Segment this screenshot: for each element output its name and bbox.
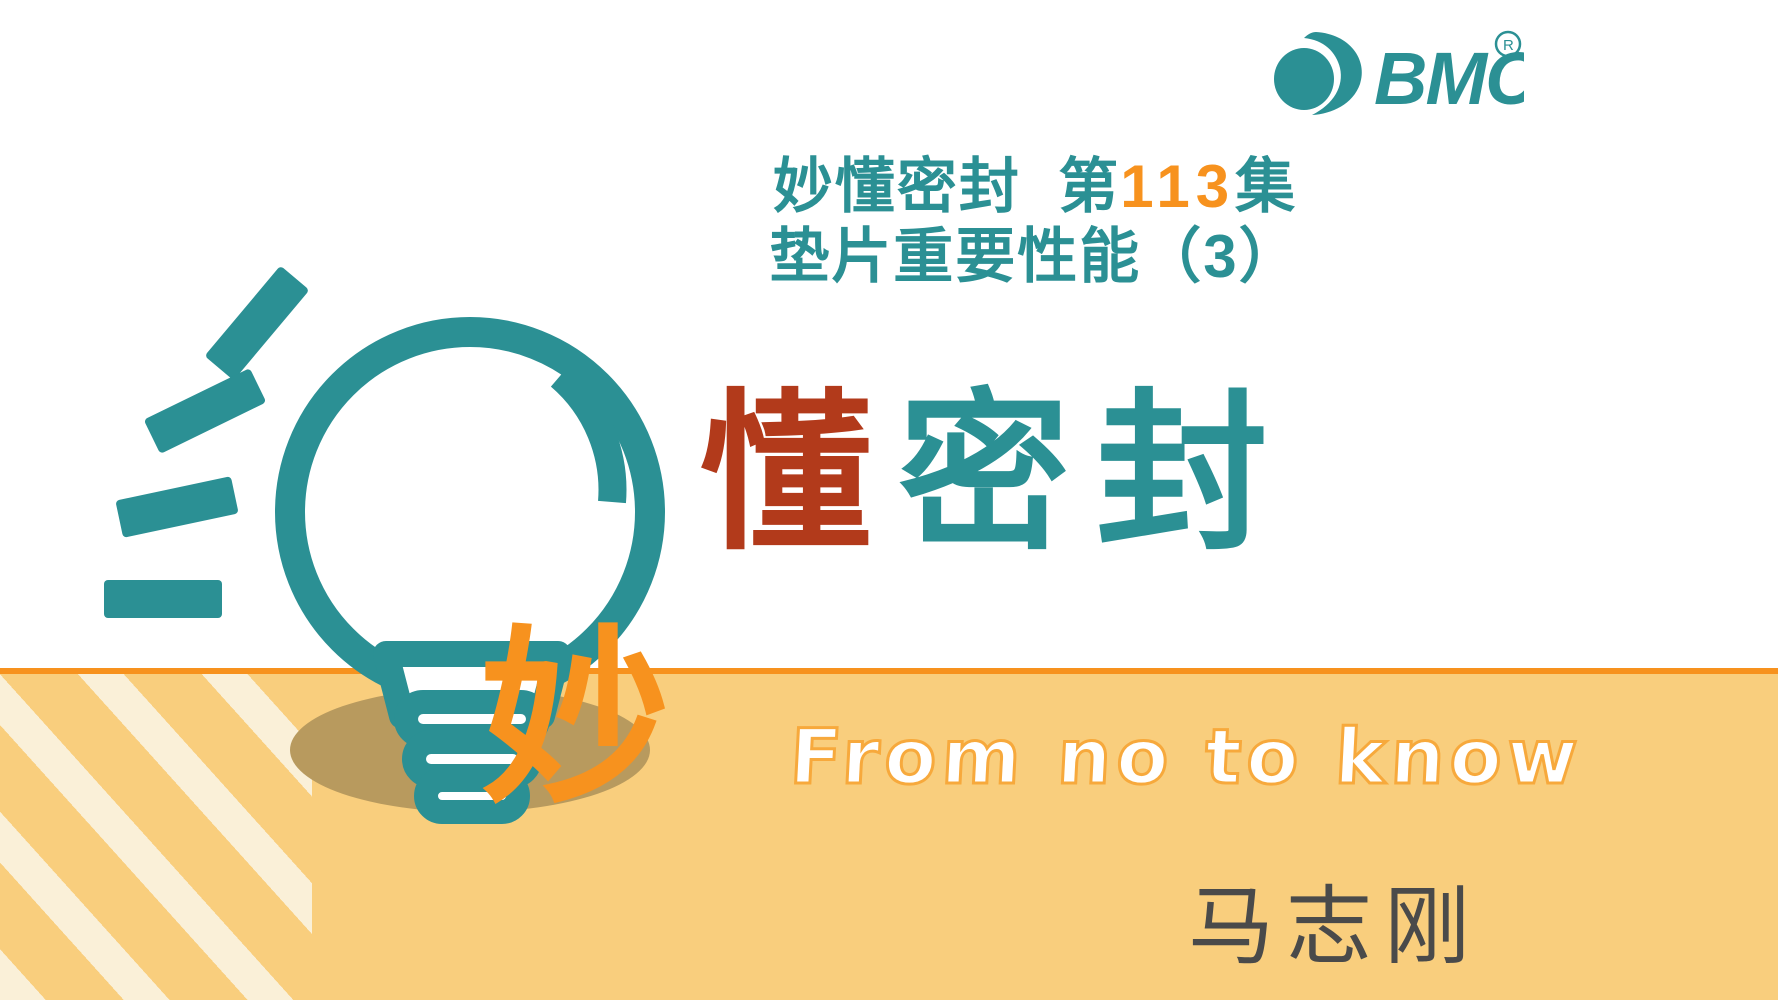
registered-r-glyph: R (1503, 37, 1514, 54)
bmc-wordmark: BMC (1374, 37, 1524, 118)
episode-suffix: 集 (1235, 153, 1297, 220)
light-ray-4 (104, 580, 222, 618)
episode-number: 113 (1120, 153, 1235, 220)
episode-prefix: 第 (1058, 153, 1120, 220)
presenter-name: 马志刚 (1188, 856, 1482, 981)
bmc-logo: BMC R (1264, 22, 1524, 118)
lightbulb-illustration: 妙 (150, 250, 770, 850)
brand-char-feng: 封 (1096, 378, 1294, 570)
tagline-text: From no to know (788, 712, 1585, 801)
bulb-character-miao: 妙 (480, 625, 670, 815)
brand-wordmark: 懂密封 (700, 388, 1294, 560)
slide-canvas: BMC R 妙懂密封 第113集 垫片重要性能（3） 懂密封 From no t… (0, 0, 1778, 1000)
brand-char-mi: 密 (898, 378, 1096, 570)
series-title: 妙懂密封 (773, 153, 1021, 220)
light-ray-1 (205, 266, 310, 381)
heading-line-1: 妙懂密封 第113集 (560, 152, 1510, 222)
light-ray-2 (144, 368, 267, 454)
heading-space (1021, 153, 1058, 220)
bmc-leaf-mark (1274, 32, 1362, 115)
